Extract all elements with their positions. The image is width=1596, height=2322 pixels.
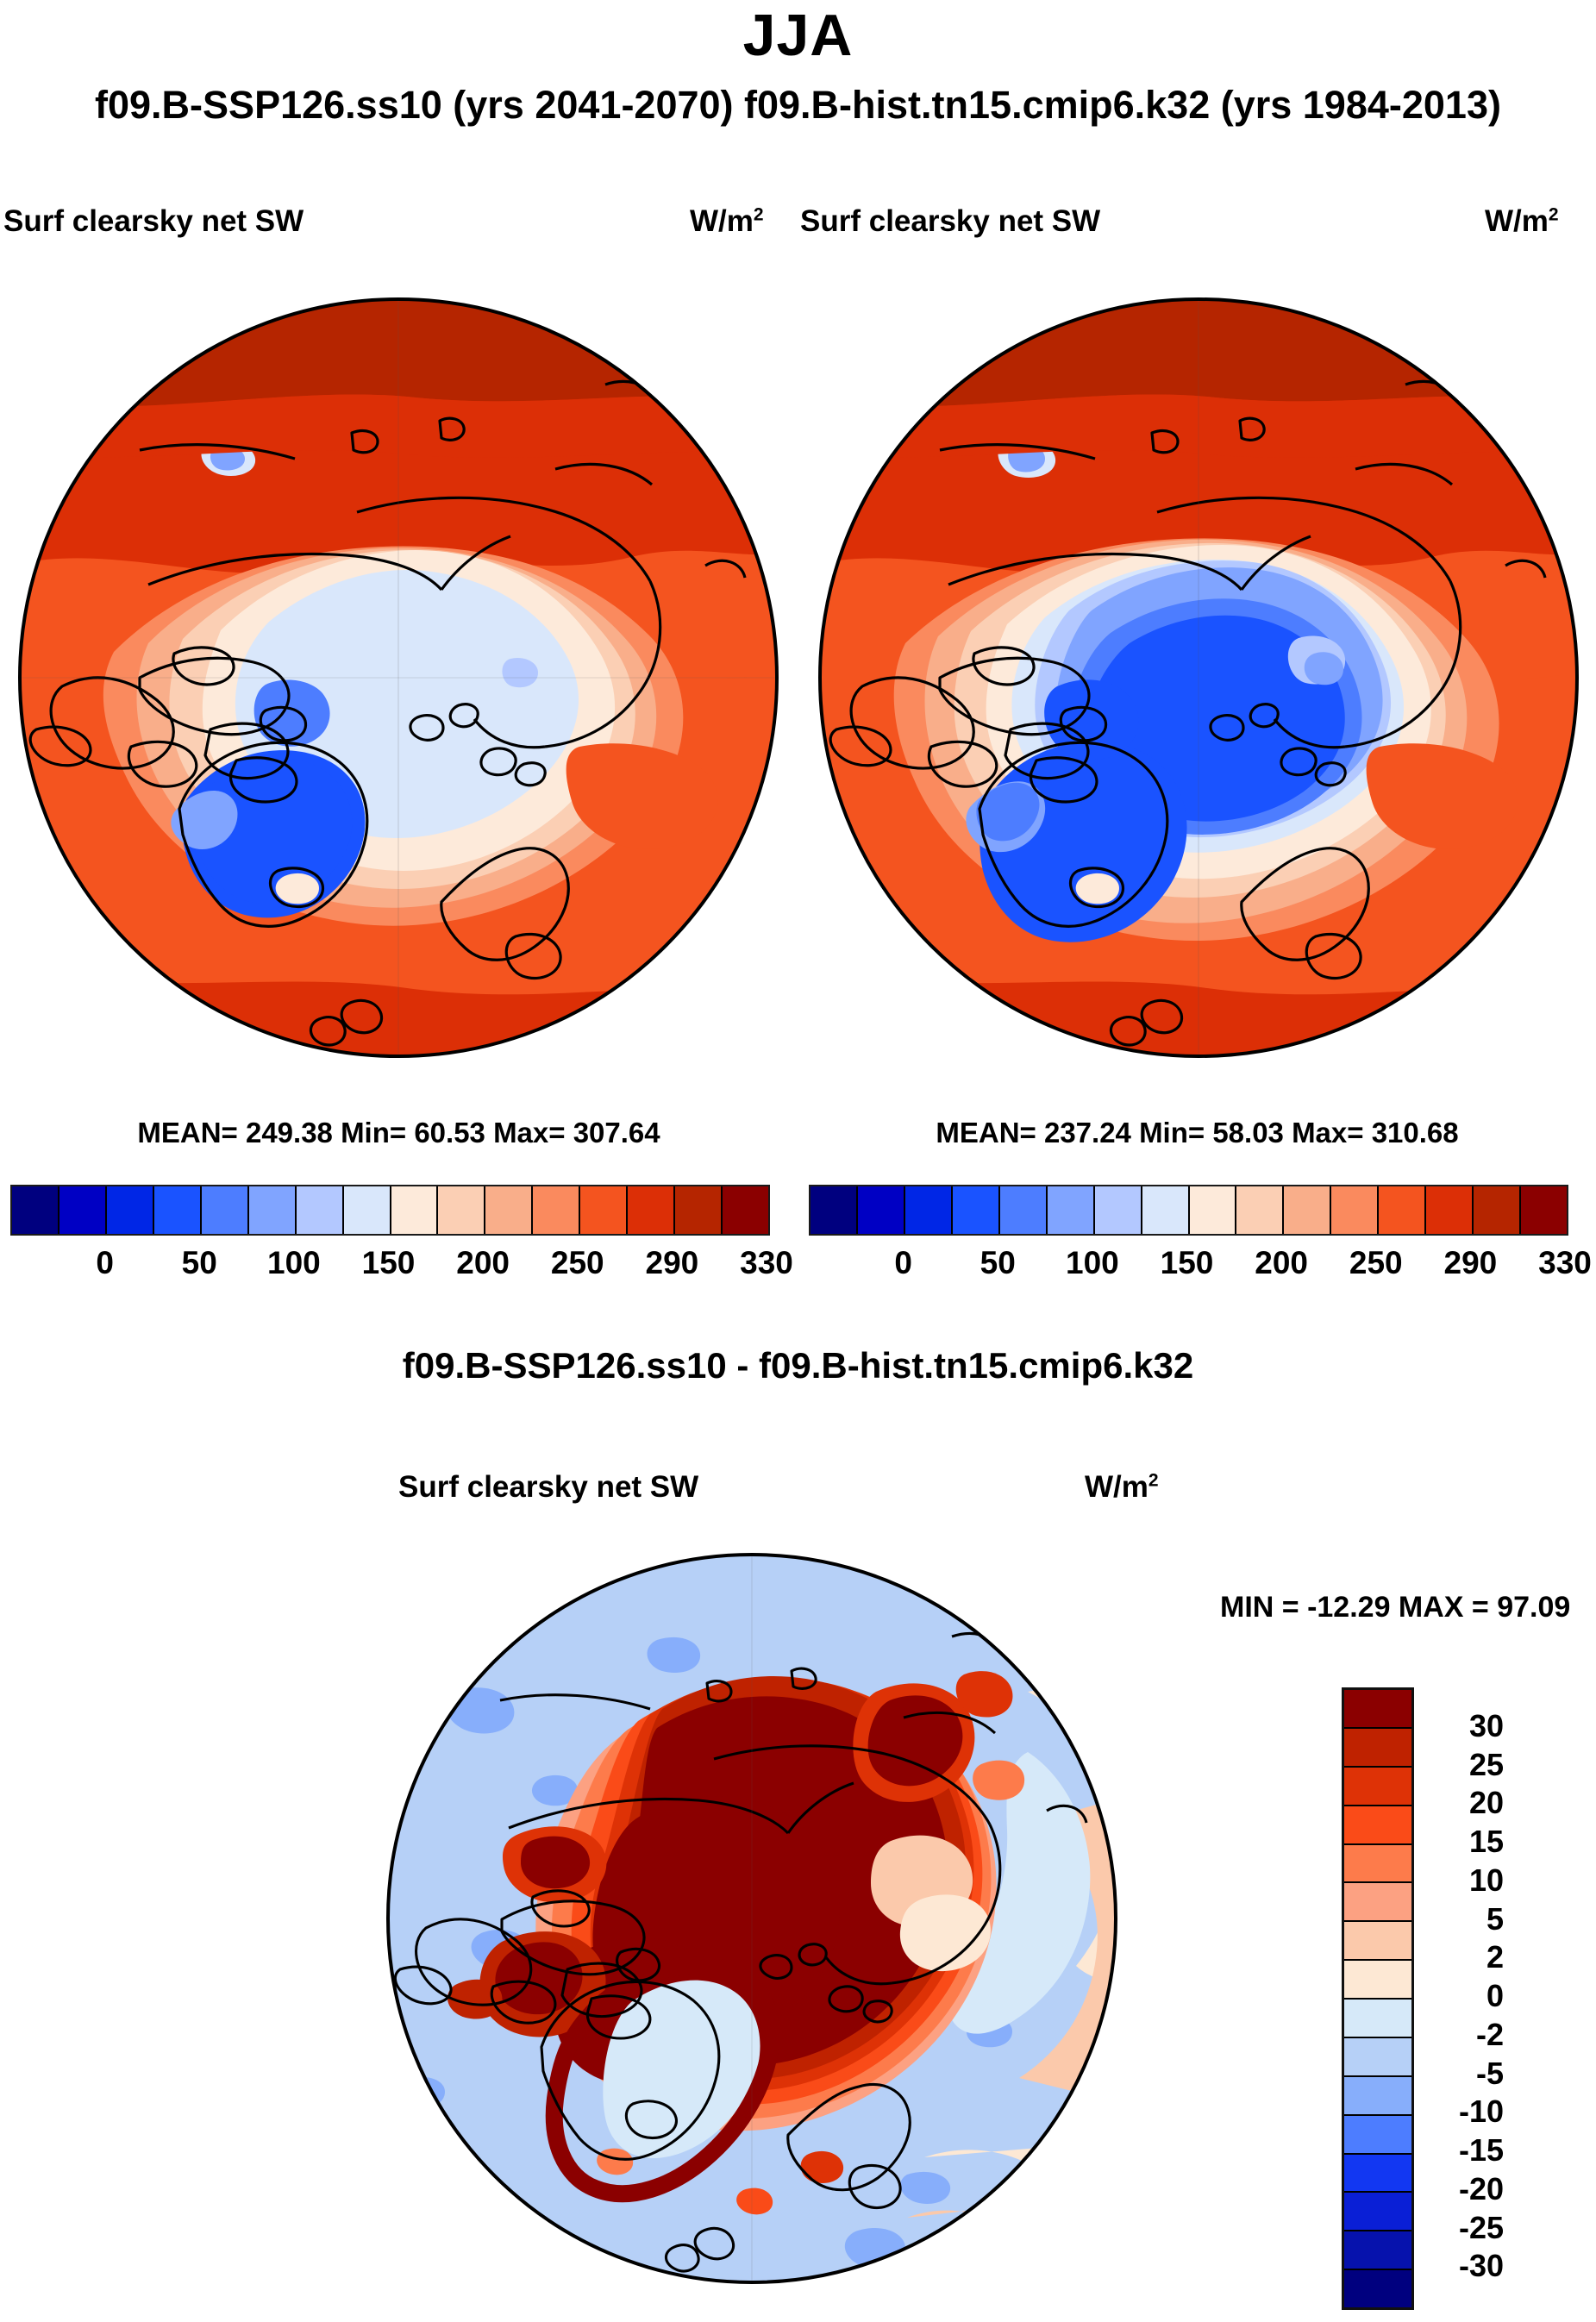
colorbar-swatch [1142,1186,1190,1234]
diff-minmax-label: MIN = -12.29 MAX = 97.09 [1220,1591,1570,1624]
colorbar-tick-label: 50 [980,1245,1016,1281]
colorbar-swatch [953,1186,1000,1234]
colorbar-swatch [1521,1186,1567,1234]
colorbar-tick-label: 0 [1486,1978,1504,2014]
colorbar-tick-label: 250 [551,1245,604,1281]
colorbar-left[interactable] [10,1185,770,1236]
colorbar-swatch [1344,2038,1411,2077]
colorbar-tick-label: 290 [1444,1245,1498,1281]
colorbar-tick-label: -30 [1459,2248,1504,2284]
right-units-text: W/m [1485,204,1549,238]
colorbar-tick-label: 0 [894,1245,912,1281]
colorbar-tick-label: 290 [646,1245,699,1281]
colorbar-tick-label: 15 [1469,1824,1504,1860]
colorbar-swatch [723,1186,768,1234]
diff-units-exponent: 2 [1148,1470,1159,1490]
colorbar-swatch [107,1186,154,1234]
colorbar-swatch [12,1186,59,1234]
case-subtitle: f09.B-SSP126.ss10 (yrs 2041-2070) f09.B-… [0,83,1596,128]
colorbar-swatch [1344,2000,1411,2038]
colorbar-tick-label: 330 [1538,1245,1592,1281]
colorbar-tick-label: 25 [1469,1747,1504,1783]
colorbar-tick-label: 2 [1486,1939,1504,1975]
colorbar-tick-label: 0 [96,1245,114,1281]
difference-title: f09.B-SSP126.ss10 - f09.B-hist.tn15.cmip… [0,1345,1596,1386]
colorbar-tick-label: 330 [740,1245,793,1281]
colorbar-swatch [154,1186,202,1234]
map-ssp126[interactable] [10,281,786,1074]
colorbar-swatch [1426,1186,1474,1234]
colorbar-swatch [1048,1186,1095,1234]
colorbar-left-ticks: 050100150200250290330 [10,1245,767,1285]
colorbar-difference[interactable] [1342,1687,1414,2310]
colorbar-swatch [1000,1186,1048,1234]
colorbar-swatch [1344,1922,1411,1961]
colorbar-tick-label: -10 [1459,2094,1504,2130]
colorbar-tick-label: -15 [1459,2132,1504,2169]
colorbar-right-ticks: 050100150200250290330 [809,1245,1565,1285]
colorbar-swatch [533,1186,580,1234]
left-panel-units-label: W/m2 [690,204,764,239]
colorbar-swatch [1344,1961,1411,2000]
colorbar-swatch [249,1186,297,1234]
right-units-exponent: 2 [1549,204,1559,224]
left-panel-stats: MEAN= 249.38 Min= 60.53 Max= 307.64 [0,1117,798,1149]
colorbar-tick-label: 100 [267,1245,321,1281]
colorbar-swatch [1344,1729,1411,1768]
colorbar-swatch [344,1186,391,1234]
colorbar-swatch [202,1186,249,1234]
colorbar-swatch [1331,1186,1379,1234]
diff-units-label: W/m2 [1085,1470,1159,1505]
colorbar-swatch [1344,2155,1411,2194]
colorbar-swatch [1379,1186,1426,1234]
map-difference[interactable] [372,1537,1131,2304]
colorbar-swatch [628,1186,675,1234]
colorbar-difference-ticks: 3025201510520-2-5-10-15-20-25-30 [1421,1687,1504,2305]
colorbar-tick-label: 200 [456,1245,510,1281]
colorbar-swatch [1344,1806,1411,1845]
colorbar-tick-label: 20 [1469,1785,1504,1821]
colorbar-swatch [1344,1768,1411,1806]
right-panel-units-label: W/m2 [1485,204,1559,239]
colorbar-tick-label: -20 [1459,2171,1504,2207]
colorbar-tick-label: -25 [1459,2210,1504,2246]
colorbar-tick-label: 200 [1255,1245,1308,1281]
colorbar-swatch [1474,1186,1521,1234]
colorbar-tick-label: 150 [1161,1245,1214,1281]
colorbar-swatch [1284,1186,1331,1234]
colorbar-tick-label: 150 [362,1245,416,1281]
colorbar-swatch [1344,1690,1411,1729]
colorbar-swatch [297,1186,344,1234]
colorbar-swatch [1344,2116,1411,2155]
colorbar-swatch [1095,1186,1142,1234]
colorbar-tick-label: 5 [1486,1901,1504,1937]
colorbar-swatch [905,1186,953,1234]
colorbar-swatch [1344,2193,1411,2231]
colorbar-tick-label: 10 [1469,1862,1504,1899]
colorbar-swatch [1344,2077,1411,2116]
colorbar-swatch [580,1186,628,1234]
colorbar-swatch [1344,2270,1411,2307]
colorbar-tick-label: -5 [1476,2056,1504,2092]
colorbar-tick-label: 250 [1349,1245,1403,1281]
colorbar-swatch [391,1186,439,1234]
colorbar-tick-label: 30 [1469,1708,1504,1744]
diff-units-text: W/m [1085,1470,1148,1504]
colorbar-swatch [1344,1883,1411,1922]
colorbar-swatch [811,1186,858,1234]
colorbar-tick-label: 100 [1066,1245,1119,1281]
map-historical[interactable] [811,281,1587,1074]
colorbar-swatch [1236,1186,1284,1234]
colorbar-swatch [675,1186,723,1234]
colorbar-right[interactable] [809,1185,1568,1236]
colorbar-tick-label: 50 [182,1245,217,1281]
right-panel-stats: MEAN= 237.24 Min= 58.03 Max= 310.68 [798,1117,1596,1149]
colorbar-swatch [438,1186,485,1234]
colorbar-tick-label: -2 [1476,2017,1504,2053]
colorbar-swatch [1344,2231,1411,2270]
diff-variable-label: Surf clearsky net SW [398,1470,698,1505]
colorbar-swatch [858,1186,905,1234]
left-units-exponent: 2 [754,204,764,224]
left-units-text: W/m [690,204,754,238]
colorbar-swatch [1190,1186,1237,1234]
colorbar-swatch [59,1186,107,1234]
colorbar-swatch [1344,1845,1411,1884]
page-title: JJA [0,2,1596,69]
colorbar-swatch [485,1186,533,1234]
right-panel-variable-label: Surf clearsky net SW [800,204,1100,239]
left-panel-variable-label: Surf clearsky net SW [3,204,304,239]
